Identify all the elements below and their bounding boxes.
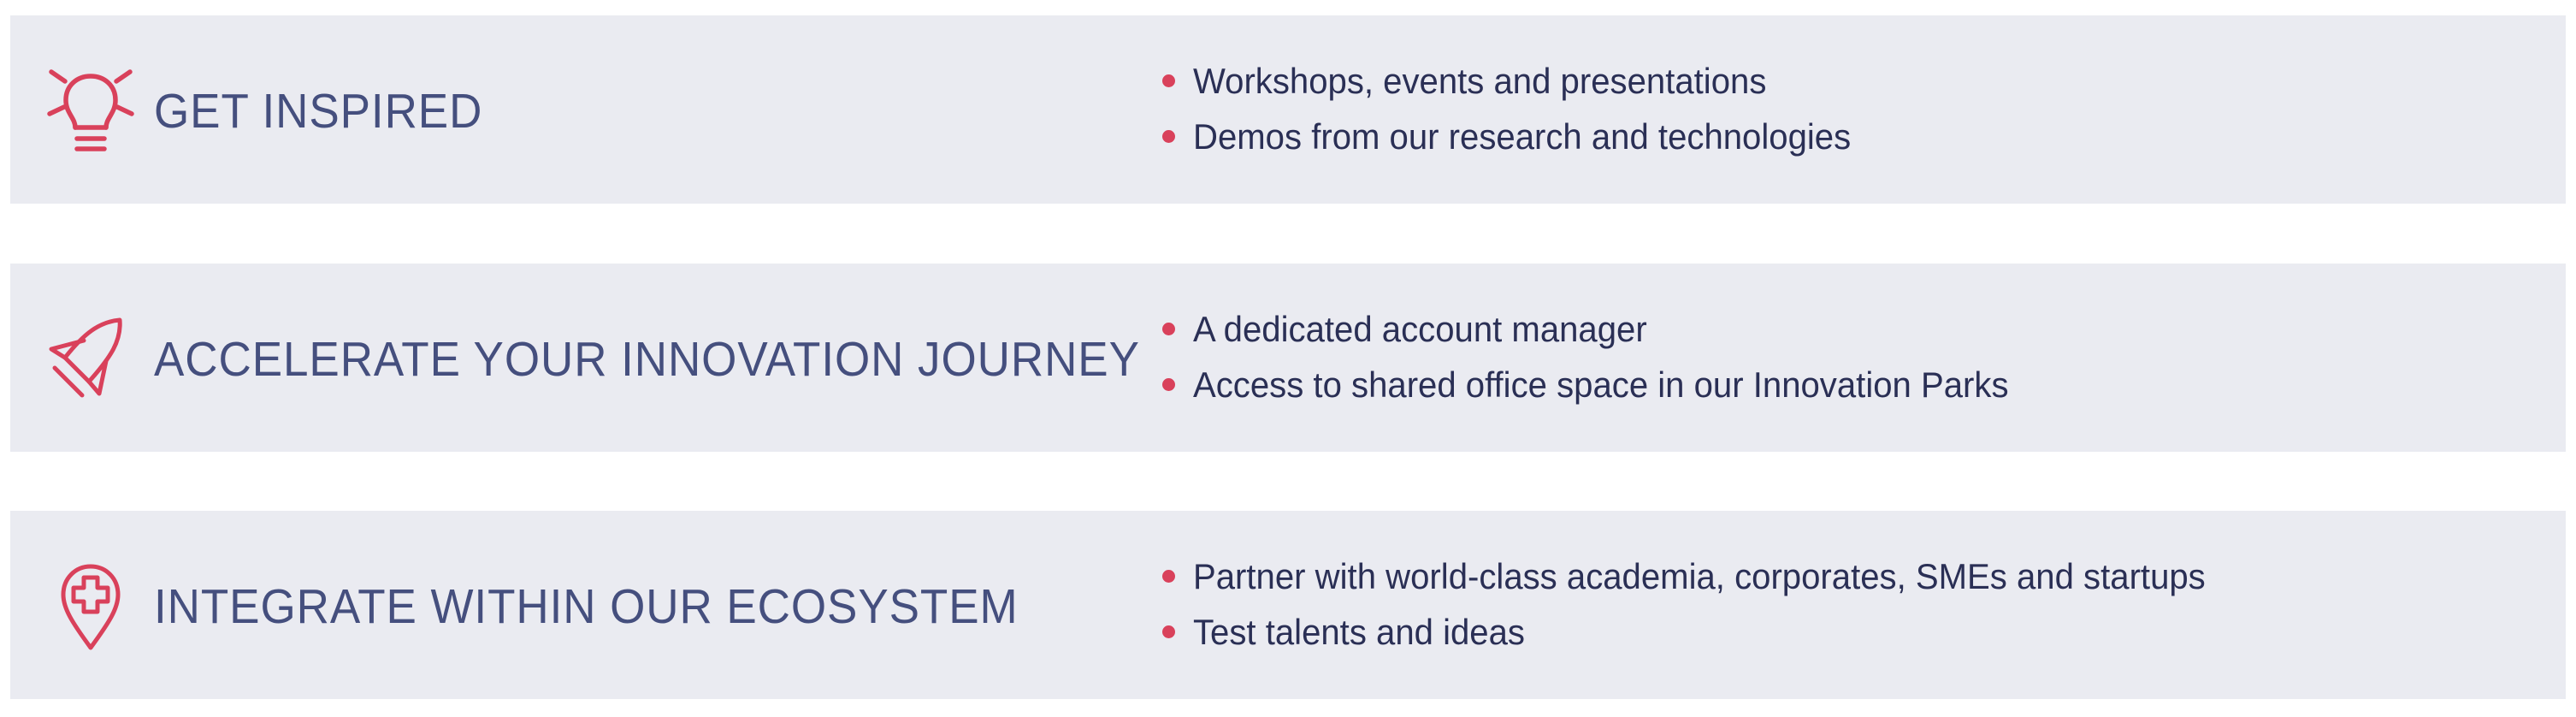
- bullet-dot-icon: [1162, 130, 1175, 143]
- list-item: Workshops, events and presentations: [1162, 63, 2566, 100]
- panel-left-get-inspired: GET INSPIRED: [10, 43, 1150, 176]
- bullet-text: Demos from our research and technologies: [1193, 119, 1851, 156]
- panel-right-get-inspired: Workshops, events and presentations Demo…: [1150, 63, 2566, 156]
- panel-right-integrate-ecosystem: Partner with world-class academia, corpo…: [1150, 559, 2566, 651]
- bullet-text: Partner with world-class academia, corpo…: [1193, 559, 2206, 596]
- list-item: Partner with world-class academia, corpo…: [1162, 559, 2566, 596]
- panel-heading: INTEGRATE WITHIN OUR ECOSYSTEM: [154, 579, 1019, 631]
- list-item: Access to shared office space in our Inn…: [1162, 367, 2566, 404]
- benefits-board: GET INSPIRED Workshops, events and prese…: [0, 0, 2576, 717]
- panel-left-integrate-ecosystem: INTEGRATE WITHIN OUR ECOSYSTEM: [10, 538, 1150, 672]
- bullet-list: Workshops, events and presentations Demo…: [1162, 63, 2566, 156]
- rocket-icon: [43, 306, 139, 409]
- list-item: Test talents and ideas: [1162, 614, 2566, 651]
- map-pin-cross-icon: [43, 554, 139, 656]
- bullet-dot-icon: [1162, 323, 1175, 335]
- bullet-text: Workshops, events and presentations: [1193, 63, 1766, 100]
- benefit-panel-get-inspired: GET INSPIRED Workshops, events and prese…: [10, 15, 2566, 204]
- bullet-text: Test talents and ideas: [1193, 614, 1525, 651]
- list-item: A dedicated account manager: [1162, 311, 2566, 348]
- bullet-dot-icon: [1162, 74, 1175, 87]
- list-item: Demos from our research and technologies: [1162, 119, 2566, 156]
- bullet-list: Partner with world-class academia, corpo…: [1162, 559, 2566, 651]
- panel-heading: ACCELERATE YOUR INNOVATION JOURNEY: [154, 332, 1140, 384]
- bullet-dot-icon: [1162, 378, 1175, 391]
- panel-heading: GET INSPIRED: [154, 84, 482, 136]
- bullet-dot-icon: [1162, 570, 1175, 583]
- benefit-panel-accelerate-innovation-journey: ACCELERATE YOUR INNOVATION JOURNEY A ded…: [10, 264, 2566, 452]
- bullet-list: A dedicated account manager Access to sh…: [1162, 311, 2566, 404]
- lightbulb-icon: [43, 58, 139, 161]
- bullet-text: A dedicated account manager: [1193, 311, 1647, 348]
- panel-right-accelerate-innovation-journey: A dedicated account manager Access to sh…: [1150, 311, 2566, 404]
- bullet-dot-icon: [1162, 625, 1175, 638]
- benefit-panel-integrate-ecosystem: INTEGRATE WITHIN OUR ECOSYSTEM Partner w…: [10, 511, 2566, 699]
- bullet-text: Access to shared office space in our Inn…: [1193, 367, 2009, 404]
- panel-left-accelerate-innovation-journey: ACCELERATE YOUR INNOVATION JOURNEY: [10, 291, 1150, 424]
